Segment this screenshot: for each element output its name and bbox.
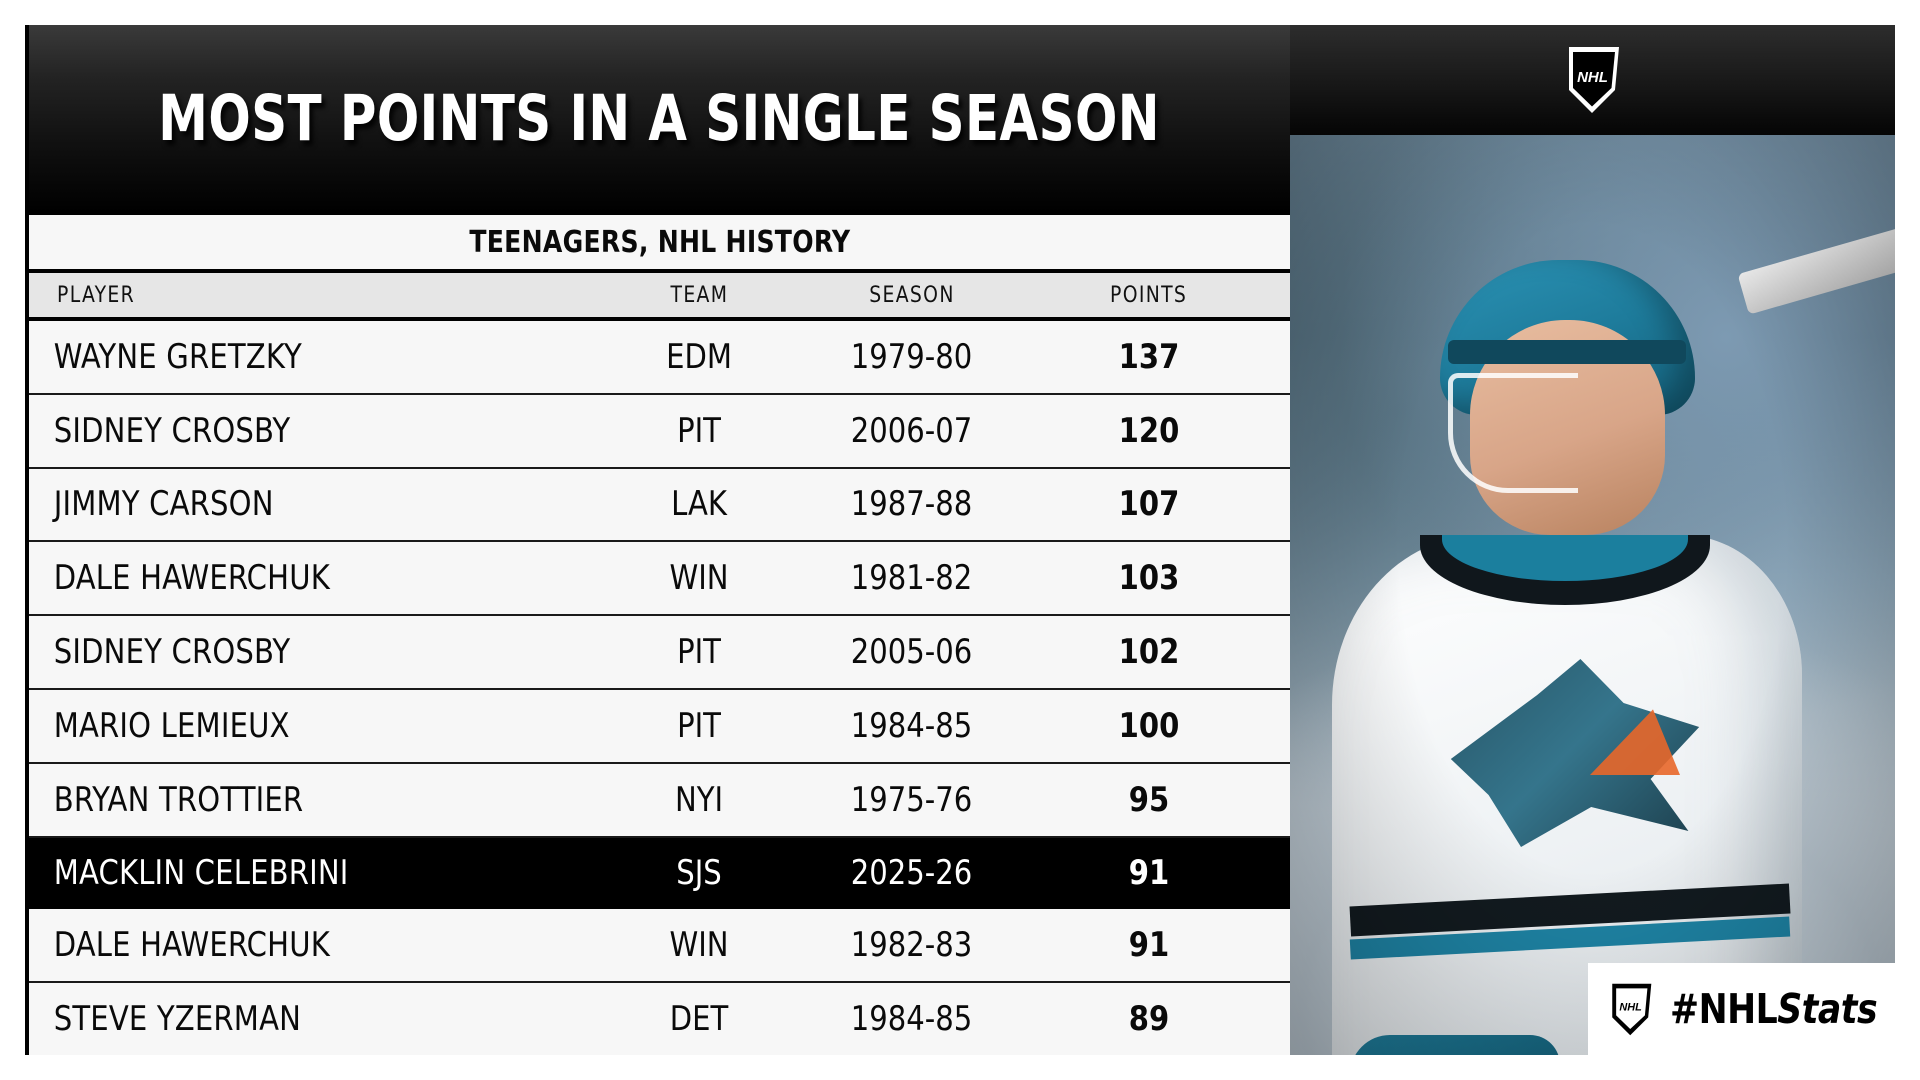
cell-season: 1979-80 bbox=[795, 337, 1028, 377]
table-row: SIDNEY CROSBYPIT2005-06102 bbox=[29, 616, 1290, 690]
photo-panel: NHL NHL #NHLStats bbox=[1290, 25, 1895, 1055]
photo-vignette bbox=[1290, 135, 1895, 1055]
column-header-player: PLAYER bbox=[29, 283, 609, 308]
cell-player: SIDNEY CROSBY bbox=[29, 411, 580, 451]
cell-team: PIT bbox=[614, 632, 785, 672]
stats-table-panel: MOST POINTS IN A SINGLE SEASON TEENAGERS… bbox=[25, 25, 1290, 1055]
cell-player: STEVE YZERMAN bbox=[29, 999, 580, 1039]
svg-text:NHL: NHL bbox=[1619, 1001, 1642, 1013]
photo-header-bar: NHL bbox=[1290, 25, 1895, 135]
cell-team: PIT bbox=[614, 411, 785, 451]
table-row: STEVE YZERMANDET1984-8589 bbox=[29, 983, 1290, 1055]
table-column-headers: PLAYER TEAM SEASON POINTS bbox=[29, 273, 1290, 321]
page-subtitle: TEENAGERS, NHL HISTORY bbox=[469, 225, 850, 260]
page-title: MOST POINTS IN A SINGLE SEASON bbox=[159, 82, 1161, 155]
cell-player: DALE HAWERCHUK bbox=[29, 558, 580, 598]
cell-season: 1975-76 bbox=[795, 780, 1028, 820]
column-header-season: SEASON bbox=[789, 283, 1034, 308]
cell-team: DET bbox=[614, 999, 785, 1039]
cell-player: JIMMY CARSON bbox=[29, 484, 580, 524]
table-row: MARIO LEMIEUXPIT1984-85100 bbox=[29, 690, 1290, 764]
svg-text:NHL: NHL bbox=[1577, 69, 1608, 86]
cell-season: 2025-26 bbox=[795, 853, 1028, 893]
cell-team: SJS bbox=[614, 853, 785, 893]
nhl-shield-icon: NHL bbox=[1606, 981, 1656, 1038]
badge-hash-text: #NHL bbox=[1670, 985, 1777, 1033]
cell-player: BRYAN TROTTIER bbox=[29, 780, 580, 820]
table-row: DALE HAWERCHUKWIN1981-82103 bbox=[29, 542, 1290, 616]
cell-points: 95 bbox=[1040, 780, 1259, 820]
cell-player: MACKLIN CELEBRINI bbox=[29, 853, 580, 893]
cell-season: 2006-07 bbox=[795, 411, 1028, 451]
nhl-stats-badge: NHL #NHLStats bbox=[1588, 963, 1895, 1055]
cell-points: 102 bbox=[1040, 632, 1259, 672]
column-header-season-label: SEASON bbox=[869, 283, 954, 308]
column-header-points-label: POINTS bbox=[1110, 283, 1187, 308]
cell-points: 89 bbox=[1040, 999, 1259, 1039]
nhl-shield-icon: NHL bbox=[1561, 44, 1625, 116]
cell-team: EDM bbox=[614, 337, 785, 377]
table-body: WAYNE GRETZKYEDM1979-80137SIDNEY CROSBYP… bbox=[29, 321, 1290, 1055]
graphic-canvas: MOST POINTS IN A SINGLE SEASON TEENAGERS… bbox=[0, 0, 1920, 1080]
cell-season: 2005-06 bbox=[795, 632, 1028, 672]
nhl-stats-wordmark: #NHLStats bbox=[1670, 985, 1877, 1033]
table-row: DALE HAWERCHUKWIN1982-8391 bbox=[29, 909, 1290, 983]
subtitle-bar: TEENAGERS, NHL HISTORY bbox=[29, 215, 1290, 273]
column-header-team-label: TEAM bbox=[670, 283, 728, 308]
cell-player: MARIO LEMIEUX bbox=[29, 706, 580, 746]
table-row: WAYNE GRETZKYEDM1979-80137 bbox=[29, 321, 1290, 395]
cell-team: NYI bbox=[614, 780, 785, 820]
column-header-player-label: PLAYER bbox=[57, 283, 135, 308]
cell-player: SIDNEY CROSBY bbox=[29, 632, 580, 672]
table-row: MACKLIN CELEBRINISJS2025-2691 bbox=[29, 838, 1290, 910]
column-header-points: POINTS bbox=[1034, 283, 1264, 308]
table-row: JIMMY CARSONLAK1987-88107 bbox=[29, 469, 1290, 543]
cell-player: WAYNE GRETZKY bbox=[29, 337, 580, 377]
title-bar: MOST POINTS IN A SINGLE SEASON bbox=[29, 25, 1290, 215]
cell-team: WIN bbox=[614, 925, 785, 965]
table-row: SIDNEY CROSBYPIT2006-07120 bbox=[29, 395, 1290, 469]
cell-points: 137 bbox=[1040, 337, 1259, 377]
table-row: BRYAN TROTTIERNYI1975-7695 bbox=[29, 764, 1290, 838]
cell-team: LAK bbox=[614, 484, 785, 524]
cell-points: 103 bbox=[1040, 558, 1259, 598]
cell-team: WIN bbox=[614, 558, 785, 598]
cell-season: 1984-85 bbox=[795, 706, 1028, 746]
cell-points: 120 bbox=[1040, 411, 1259, 451]
cell-player: DALE HAWERCHUK bbox=[29, 925, 580, 965]
cell-points: 91 bbox=[1040, 925, 1259, 965]
cell-season: 1987-88 bbox=[795, 484, 1028, 524]
badge-stats-text: Stats bbox=[1777, 985, 1877, 1033]
cell-season: 1981-82 bbox=[795, 558, 1028, 598]
cell-team: PIT bbox=[614, 706, 785, 746]
cell-points: 91 bbox=[1040, 853, 1259, 893]
column-header-team: TEAM bbox=[609, 283, 789, 308]
cell-points: 100 bbox=[1040, 706, 1259, 746]
cell-season: 1984-85 bbox=[795, 999, 1028, 1039]
cell-season: 1982-83 bbox=[795, 925, 1028, 965]
cell-points: 107 bbox=[1040, 484, 1259, 524]
